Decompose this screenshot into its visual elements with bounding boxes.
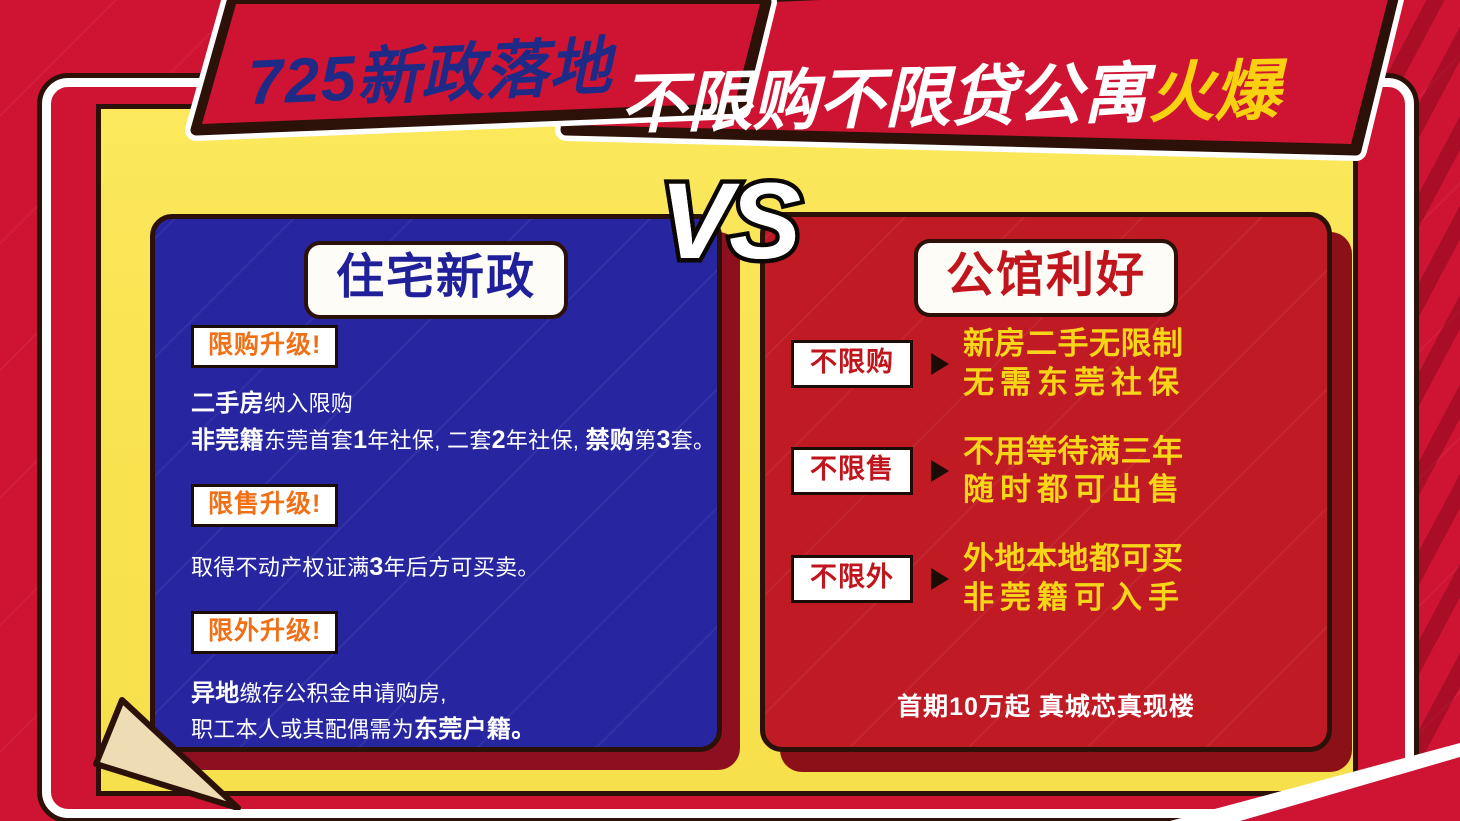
left-panel-title: 住宅新政 — [304, 241, 568, 319]
arrow-right-icon — [931, 460, 949, 482]
right-row-1-text: 新房二手无限制 无需东莞社保 — [963, 325, 1185, 403]
vs-label: VS — [660, 158, 798, 283]
right-panel-title: 公馆利好 — [914, 239, 1178, 317]
left-section-1-line-1: 二手房纳入限购 — [191, 386, 701, 422]
headline-right: 不限购不限贷公寓火爆 — [619, 37, 1281, 147]
headline-right-accent: 火爆 — [1147, 53, 1281, 130]
right-row-1: 不限购 新房二手无限制 无需东莞社保 — [791, 325, 1321, 403]
right-row-2-line-1: 不用等待满三年 — [963, 433, 1185, 472]
badge-no-sale-limit: 不限售 — [791, 447, 913, 495]
right-row-2: 不限售 不用等待满三年 随时都可出售 — [791, 433, 1321, 511]
left-section-2-line-1: 取得不动产权证满3年后方可买卖。 — [191, 549, 701, 587]
right-row-3-text: 外地本地都可买 非莞籍可入手 — [963, 540, 1185, 618]
badge-limit-external: 限外升级! — [191, 611, 338, 654]
arrow-right-icon — [931, 353, 949, 375]
right-panel-footer: 首期10万起 真城芯真现楼 — [765, 687, 1327, 723]
badge-no-external-limit: 不限外 — [791, 555, 913, 603]
right-row-3: 不限外 外地本地都可买 非莞籍可入手 — [791, 540, 1321, 618]
right-panel-rows: 不限购 新房二手无限制 无需东莞社保 不限售 不用等待满三年 随时都可出售 不限… — [791, 325, 1321, 648]
badge-no-purchase-limit: 不限购 — [791, 340, 913, 388]
right-panel-apartment: 公馆利好 不限购 新房二手无限制 无需东莞社保 不限售 不用等待满三年 随时都可… — [760, 212, 1332, 752]
header-banner-group: 725新政落地 不限购不限贷公寓火爆 — [0, 0, 1460, 175]
right-row-3-line-2: 非莞籍可入手 — [963, 579, 1185, 618]
right-row-2-text: 不用等待满三年 随时都可出售 — [963, 433, 1185, 511]
right-row-1-line-1: 新房二手无限制 — [963, 325, 1185, 364]
headline-right-main: 不限购不限贷公寓 — [619, 56, 1148, 141]
corner-fold-decoration — [88, 690, 278, 810]
left-panel-body: 限购升级! 二手房纳入限购 非莞籍东莞首套1年社保, 二套2年社保, 禁购第3套… — [191, 325, 701, 748]
badge-limit-purchase: 限购升级! — [191, 325, 338, 368]
right-row-3-line-1: 外地本地都可买 — [963, 540, 1185, 579]
right-row-2-line-2: 随时都可出售 — [963, 471, 1185, 510]
badge-limit-sale: 限售升级! — [191, 484, 338, 527]
left-section-1-line-2: 非莞籍东莞首套1年社保, 二套2年社保, 禁购第3套。 — [191, 422, 701, 460]
headline-left: 725新政落地 — [246, 16, 614, 123]
poster-root: 住宅新政 限购升级! 二手房纳入限购 非莞籍东莞首套1年社保, 二套2年社保, … — [0, 0, 1460, 821]
bottom-right-wedge — [1130, 731, 1460, 821]
right-row-1-line-2: 无需东莞社保 — [963, 364, 1185, 403]
left-section-2: 限售升级! — [191, 484, 701, 527]
left-section-3: 限外升级! — [191, 611, 701, 654]
arrow-right-icon — [931, 568, 949, 590]
left-panel-residential: 住宅新政 限购升级! 二手房纳入限购 非莞籍东莞首套1年社保, 二套2年社保, … — [150, 214, 722, 752]
left-section-1: 限购升级! — [191, 325, 701, 368]
